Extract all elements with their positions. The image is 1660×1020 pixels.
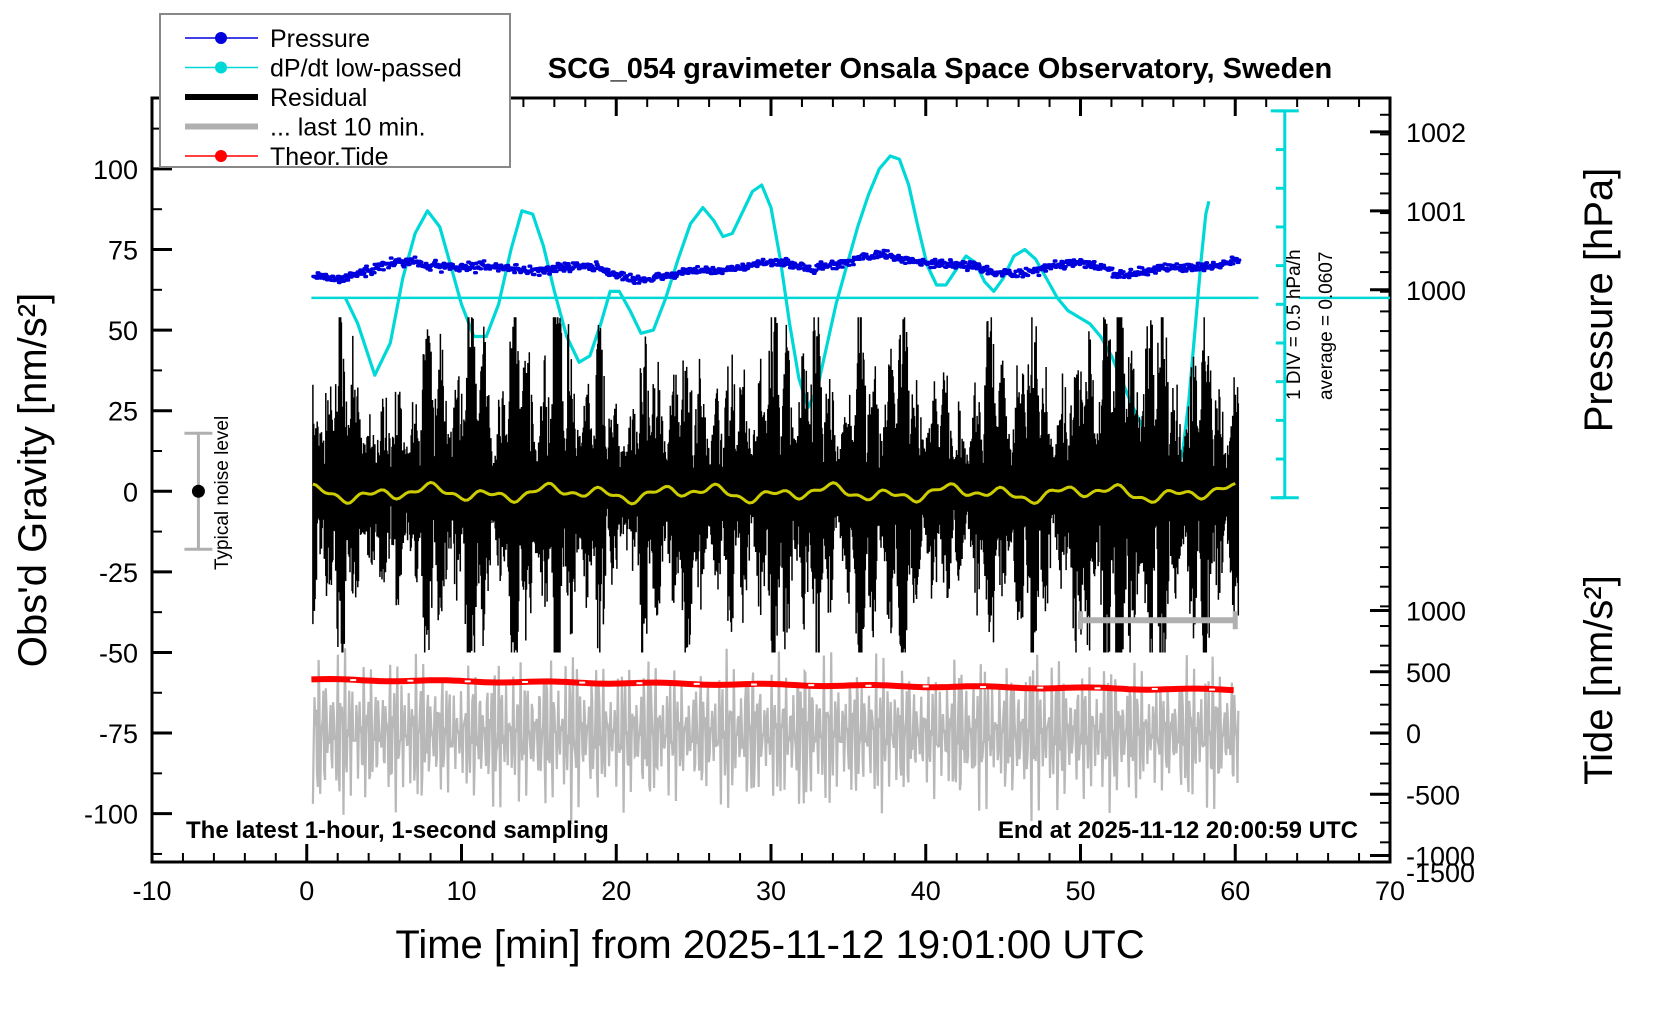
x-tick-label-20: 20	[601, 876, 631, 906]
y-tick-label--75: -75	[99, 719, 138, 749]
pressure-tick-label-1000: 1000	[1406, 276, 1466, 306]
footer-left-note: The latest 1-hour, 1-second sampling	[186, 817, 609, 844]
tide-tick-label--1500: -1500	[1406, 858, 1475, 888]
y-tick-label-25: 25	[108, 397, 138, 427]
legend-label-1: dP/dt low-passed	[270, 55, 462, 83]
x-tick-label-50: 50	[1065, 876, 1095, 906]
y-tick-label--50: -50	[99, 638, 138, 668]
y-tick-label-75: 75	[108, 236, 138, 266]
tide-tick-label--500: -500	[1406, 780, 1460, 810]
y-tick-label--100: -100	[84, 800, 138, 830]
y-axis-title-tide: Tide [nm/s²]	[1577, 575, 1621, 785]
y-axis-title-pressure: Pressure [hPa]	[1577, 168, 1621, 433]
div-scale-label: 1 DIV = 0.5 hPa/h	[1284, 249, 1305, 400]
average-label: average = 0.0607	[1316, 252, 1337, 400]
tide-tick-label-0: 0	[1406, 719, 1421, 749]
plot-svg: -10010203040506070-100-75-50-25025507510…	[0, 0, 1660, 1020]
pressure-tick-label-1002: 1002	[1406, 118, 1466, 148]
tide-tick-label-1000: 1000	[1406, 597, 1466, 627]
x-tick-label-70: 70	[1375, 876, 1405, 906]
legend-label-4: Theor.Tide	[270, 143, 389, 171]
y-tick-label--25: -25	[99, 558, 138, 588]
legend-label-0: Pressure	[270, 25, 370, 53]
legend-marker	[215, 62, 227, 74]
y-tick-label-50: 50	[108, 316, 138, 346]
x-tick-label-40: 40	[911, 876, 941, 906]
y-axis-title: Obs'd Gravity [nm/s²]	[11, 293, 55, 667]
legend: PressuredP/dt low-passedResidual... last…	[160, 14, 510, 171]
gravimeter-plot-figure: -10010203040506070-100-75-50-25025507510…	[0, 0, 1660, 1020]
pressure-tick-label-1001: 1001	[1406, 197, 1466, 227]
legend-marker	[215, 32, 227, 44]
footer-right-note: End at 2025-11-12 20:00:59 UTC	[998, 817, 1358, 844]
legend-label-3: ... last 10 min.	[270, 114, 426, 142]
legend-label-2: Residual	[270, 84, 367, 112]
legend-marker	[215, 150, 227, 162]
y-tick-label-0: 0	[123, 477, 138, 507]
x-tick-label-60: 60	[1220, 876, 1250, 906]
x-tick-label-10: 10	[446, 876, 476, 906]
x-axis-title: Time [min] from 2025-11-12 19:01:00 UTC	[395, 923, 1144, 967]
x-tick-label-0: 0	[299, 876, 314, 906]
tide-tick-label-500: 500	[1406, 658, 1451, 688]
noise-level-label: Typical noise level	[212, 416, 233, 570]
page-title: SCG_054 gravimeter Onsala Space Observat…	[548, 53, 1332, 85]
x-tick-label--10: -10	[132, 876, 171, 906]
x-tick-label-30: 30	[756, 876, 786, 906]
y-tick-label-100: 100	[93, 155, 138, 185]
